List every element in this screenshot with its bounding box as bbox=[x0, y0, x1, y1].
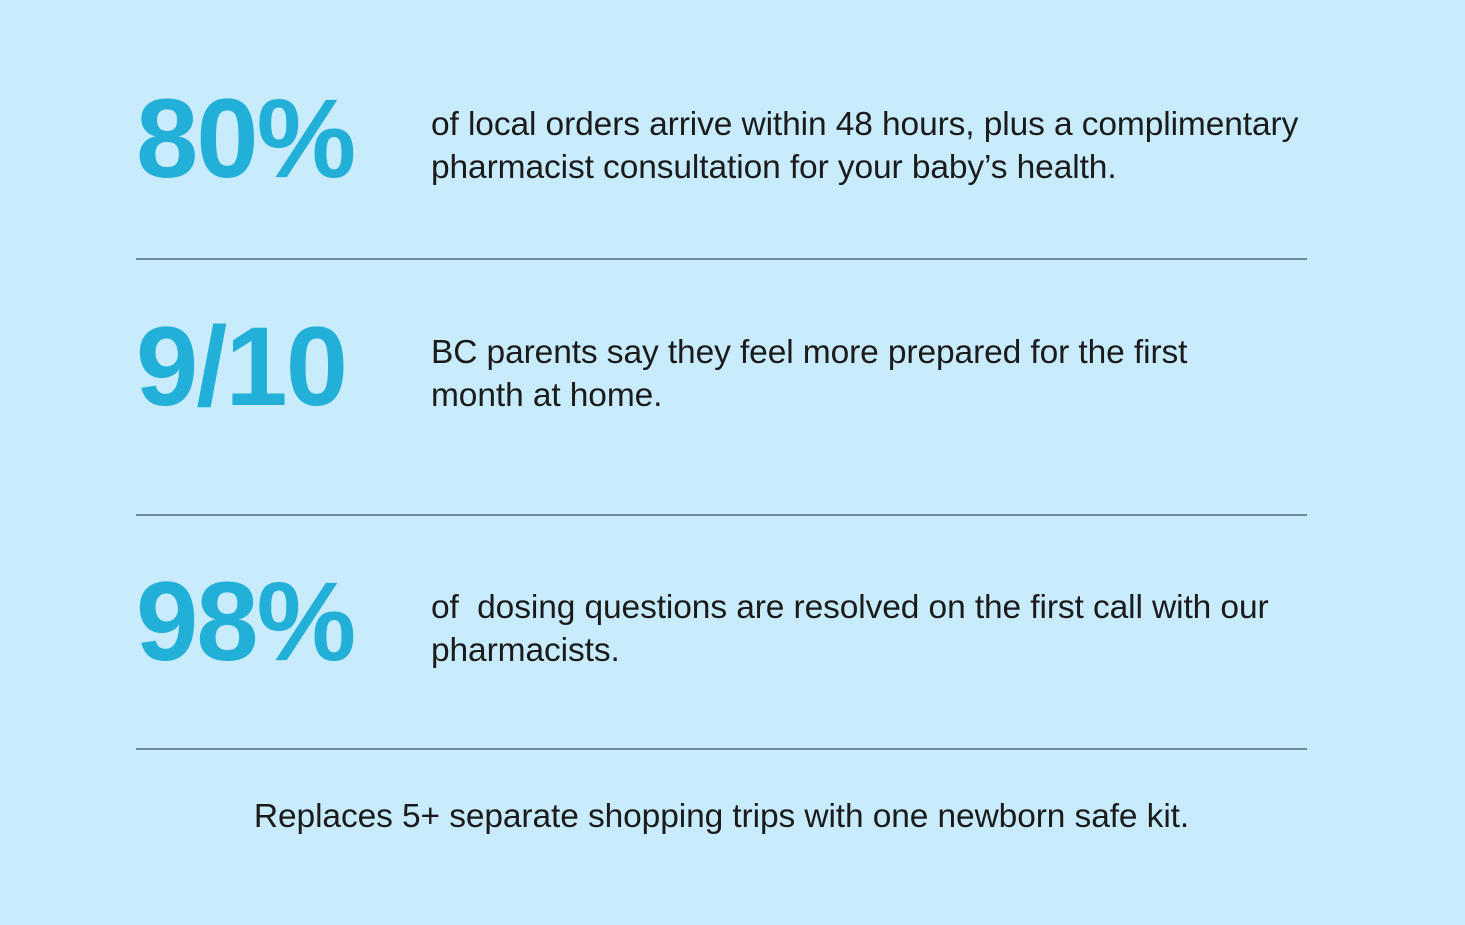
stat-value: 98% bbox=[136, 570, 431, 673]
stat-description: of local orders arrive within 48 hours, … bbox=[431, 93, 1307, 189]
stats-panel: 80% of local orders arrive within 48 hou… bbox=[0, 0, 1465, 925]
stat-row: 80% of local orders arrive within 48 hou… bbox=[136, 0, 1307, 258]
stat-description: of dosing questions are resolved on the … bbox=[431, 576, 1271, 672]
stat-row: 98% of dosing questions are resolved on … bbox=[136, 516, 1307, 748]
stat-value: 9/10 bbox=[136, 315, 431, 418]
footer-note: Replaces 5+ separate shopping trips with… bbox=[136, 750, 1307, 838]
stat-value: 80% bbox=[136, 87, 431, 190]
stats-list: 80% of local orders arrive within 48 hou… bbox=[136, 0, 1307, 838]
stat-description: BC parents say they feel more prepared f… bbox=[431, 321, 1261, 417]
stat-row: 9/10 BC parents say they feel more prepa… bbox=[136, 260, 1307, 514]
